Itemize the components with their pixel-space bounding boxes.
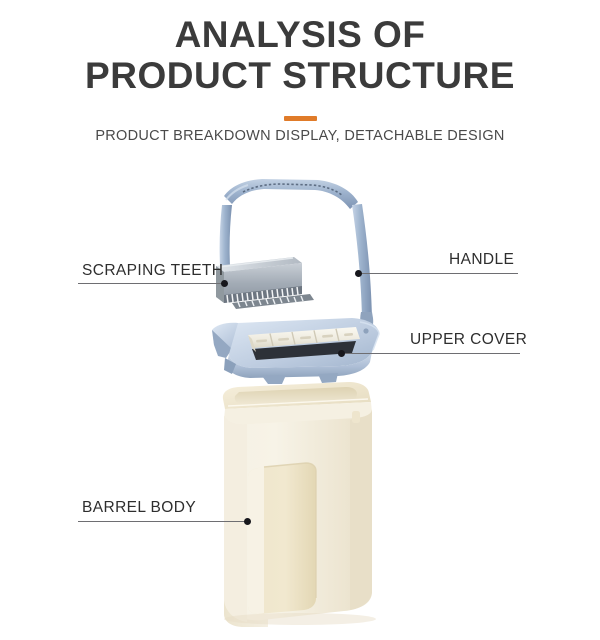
callout-anchor-dot-barrel-body <box>244 518 251 525</box>
product-part-scraping-teeth <box>216 257 314 309</box>
callout-anchor-dot-scraping-teeth <box>221 280 228 287</box>
callout-anchor-dot-handle <box>355 270 362 277</box>
accent-divider <box>284 116 317 121</box>
callout-label-barrel-body: BARREL BODY <box>82 500 196 516</box>
title-line-2: PRODUCT STRUCTURE <box>0 55 600 96</box>
header: ANALYSIS OF PRODUCT STRUCTURE PRODUCT BR… <box>0 0 600 144</box>
callout-label-handle: HANDLE <box>449 252 514 268</box>
callout-label-upper-cover: UPPER COVER <box>410 332 527 348</box>
title-line-1: ANALYSIS OF <box>175 14 426 55</box>
page-title: ANALYSIS OF PRODUCT STRUCTURE <box>0 0 600 96</box>
product-part-barrel-body <box>223 382 376 627</box>
callout-label-scraping-teeth: SCRAPING TEETH <box>82 263 223 279</box>
callout-leader-line-upper-cover <box>342 353 520 354</box>
infographic-page: ANALYSIS OF PRODUCT STRUCTURE PRODUCT BR… <box>0 0 600 640</box>
callout-leader-line-handle <box>358 273 518 274</box>
product-part-handle <box>219 179 373 332</box>
product-part-upper-cover <box>212 318 379 384</box>
callout-anchor-dot-upper-cover <box>338 350 345 357</box>
callout-leader-line-scraping-teeth <box>78 283 228 284</box>
callout-leader-line-barrel-body <box>78 521 248 522</box>
